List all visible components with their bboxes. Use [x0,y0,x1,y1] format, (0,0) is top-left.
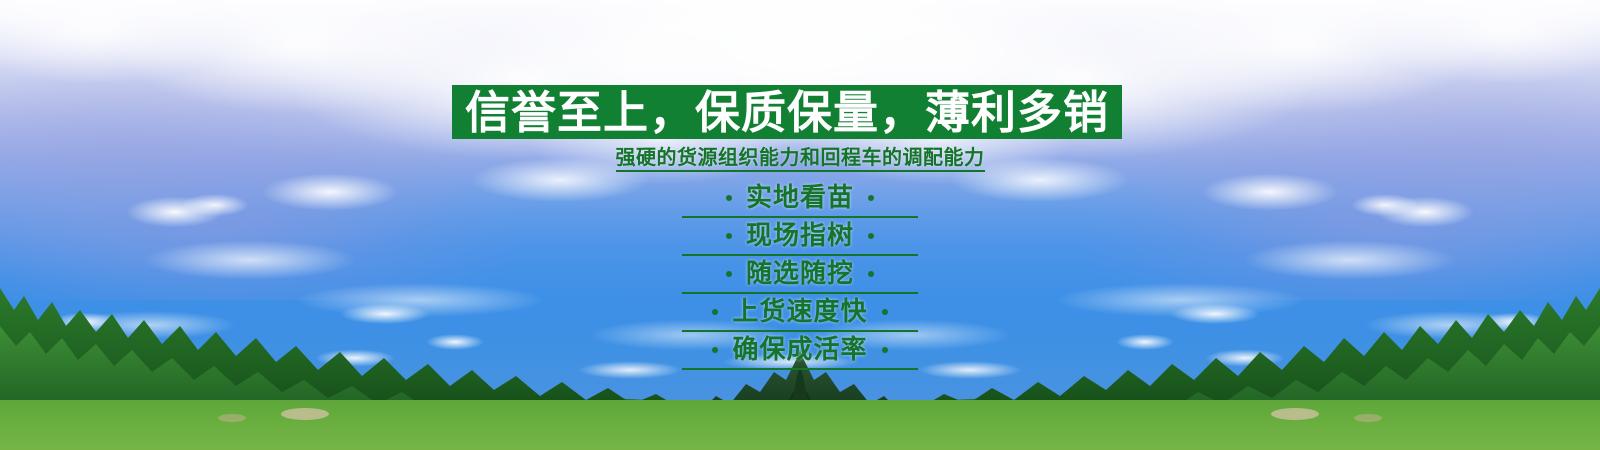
feature-label: 实地看苗 [746,185,854,211]
bullet-dot-icon [712,347,718,353]
feature-label: 现场指树 [746,223,854,249]
feature-list: 实地看苗 现场指树 随选随挖 上货速度快 确保成活率 [0,180,1600,370]
feature-item: 确保成活率 [682,332,918,370]
bullet-dot-icon [712,309,718,315]
feature-label: 上货速度快 [732,299,867,325]
headline-banner: 信誉至上，保质保量，薄利多销 [452,85,1122,139]
feature-item: 随选随挖 [682,256,918,294]
subtitle-container: 强硬的货源组织能力和回程车的调配能力 [0,146,1600,172]
headline-text: 信誉至上，保质保量，薄利多销 [465,90,1109,135]
feature-item: 现场指树 [682,218,918,256]
bullet-dot-icon [868,195,874,201]
hero-banner: 信誉至上，保质保量，薄利多销 强硬的货源组织能力和回程车的调配能力 实地看苗 现… [0,0,1600,450]
bullet-dot-icon [726,195,732,201]
bullet-dot-icon [868,233,874,239]
bullet-dot-icon [868,271,874,277]
feature-item: 上货速度快 [682,294,918,332]
feature-label: 确保成活率 [732,337,867,363]
bullet-dot-icon [882,309,888,315]
bullet-dot-icon [882,347,888,353]
feature-item: 实地看苗 [682,180,918,218]
bullet-dot-icon [726,271,732,277]
text-overlay: 信誉至上，保质保量，薄利多销 强硬的货源组织能力和回程车的调配能力 实地看苗 现… [0,0,1600,450]
subtitle-text: 强硬的货源组织能力和回程车的调配能力 [616,146,985,172]
feature-label: 随选随挖 [746,261,854,287]
bullet-dot-icon [726,233,732,239]
